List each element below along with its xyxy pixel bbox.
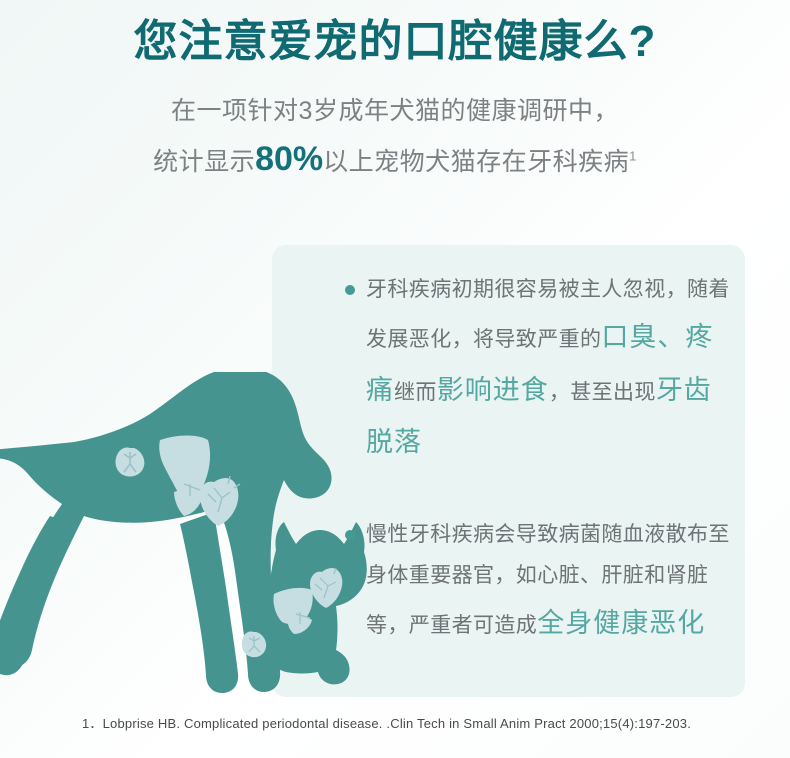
bullet-list: 牙科疾病初期很容易被主人忽视，随着发展恶化，将导致严重的口臭、疼痛继而影响进食，… [340,270,730,649]
bullet-1-segment-3: 继而 [394,381,437,404]
bullet-dot-icon [345,530,355,540]
page-header: 您注意爱宠的口腔健康么? 在一项针对3岁成年犬猫的健康调研中， 统计显示80%以… [0,0,790,187]
bullet-dot-icon [345,285,355,295]
statistic-highlight: 80% [255,140,323,178]
dog-kidney-icon [115,447,144,476]
subtitle-line-1: 在一项针对3岁成年犬猫的健康调研中， [171,97,619,125]
subtitle-line-2-prefix: 统计显示 [153,148,255,176]
bullet-1-segment-5: ，甚至出现 [549,381,656,404]
bullet-1-segment-4: 影响进食 [437,375,549,405]
cat-kidney-icon [242,631,266,657]
dog-liver-icon [159,436,210,517]
bullet-item-1: 牙科疾病初期很容易被主人忽视，随着发展恶化，将导致严重的口臭、疼痛继而影响进食，… [340,270,730,469]
subtitle-line-2-suffix: 以上宠物犬猫存在牙科疾病 [323,148,629,176]
dog-heart-icon [200,476,240,526]
footnote-citation: 1．Lobprise HB. Complicated periodontal d… [82,713,691,732]
dog-organs [115,436,240,527]
page-subtitle: 在一项针对3岁成年犬猫的健康调研中， 统计显示80%以上宠物犬猫存在牙科疾病1 [0,91,790,187]
bullet-2-segment-2: 全身健康恶化 [537,608,705,638]
footnote-reference-marker: 1 [629,148,637,163]
page-title: 您注意爱宠的口腔健康么? [0,14,790,69]
bullet-text-2: 慢性牙科疾病会导致病菌随血液散布至身体重要器官，如心脏、肝脏和肾脏等，严重者可造… [366,515,730,650]
bullet-text-1: 牙科疾病初期很容易被主人忽视，随着发展恶化，将导致严重的口臭、疼痛继而影响进食，… [366,270,730,469]
bullet-item-2: 慢性牙科疾病会导致病菌随血液散布至身体重要器官，如心脏、肝脏和肾脏等，严重者可造… [340,515,730,650]
